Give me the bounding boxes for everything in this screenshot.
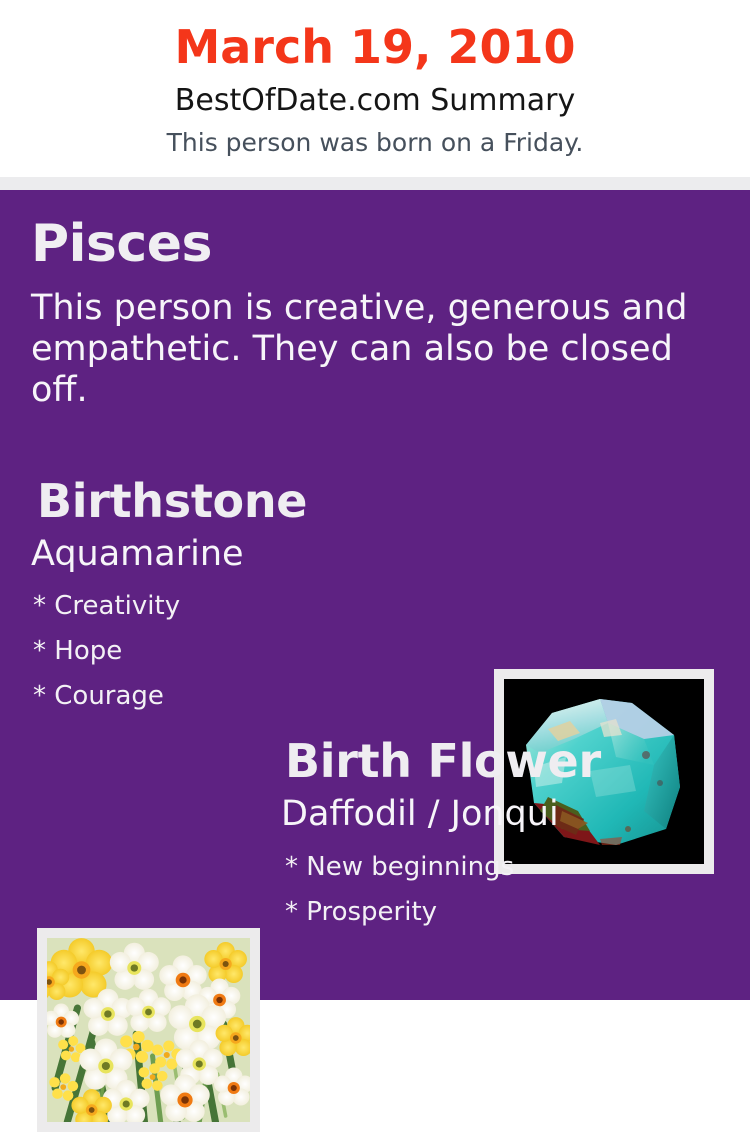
birth-flower-image-frame [37,928,260,1132]
summary-card: March 19, 2010 BestOfDate.com Summary Th… [0,0,750,1000]
list-item: * New beginnings [285,845,715,890]
header: March 19, 2010 BestOfDate.com Summary Th… [0,0,750,177]
zodiac-description: This person is creative, generous and em… [31,288,711,411]
details-panel: Pisces This person is creative, generous… [0,190,750,1000]
birth-flower-title: Birth Flower [285,735,601,787]
birthstone-title: Birthstone [37,475,307,527]
birth-flower-trait-list: * New beginnings * Prosperity [285,845,715,935]
zodiac-sign-title: Pisces [31,215,212,273]
weekday-note: This person was born on a Friday. [0,128,750,158]
header-divider [0,177,750,190]
daffodil-field-icon [47,938,250,1122]
birthstone-name: Aquamarine [31,534,244,574]
site-name: BestOfDate.com Summary [0,84,750,118]
list-item: * Creativity [33,584,453,629]
page-title-date: March 19, 2010 [0,21,750,73]
list-item: * Courage [33,674,453,719]
birth-flower-name: Daffodil / Jonqui [281,794,559,834]
list-item: * Hope [33,629,453,674]
birthstone-trait-list: * Creativity * Hope * Courage [33,584,453,719]
list-item: * Prosperity [285,890,715,935]
birth-flower-image [47,938,250,1122]
